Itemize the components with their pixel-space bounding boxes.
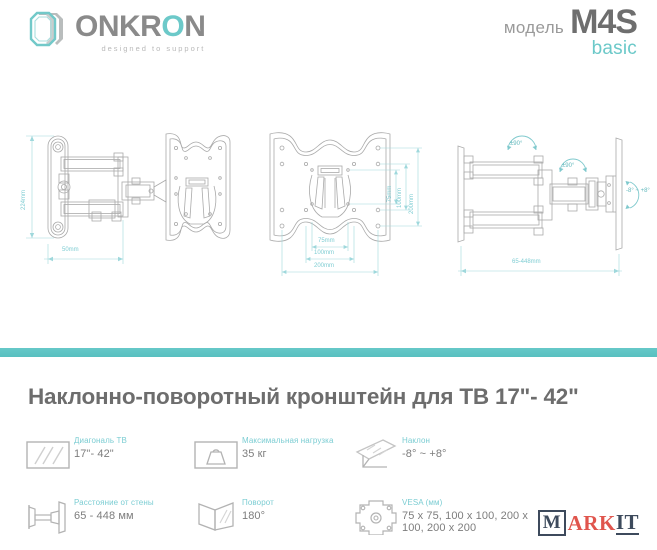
model-sub: basic bbox=[504, 39, 637, 59]
vesa-plate-icon bbox=[350, 494, 402, 540]
feature-max-load: Максимальная нагрузка 35 кг bbox=[190, 432, 350, 494]
model-code: M4S bbox=[570, 6, 637, 38]
features-row-1: Диагональ ТВ 17"- 42" Максимальная нагру… bbox=[22, 432, 642, 494]
onkron-cube-icon bbox=[26, 8, 68, 50]
top-view-extension-dim: 65-448mm bbox=[512, 259, 541, 265]
front-view-vesa-h-200: 200mm bbox=[314, 263, 334, 269]
brand-name-part2: N bbox=[184, 10, 205, 43]
feature-title: Наклон bbox=[402, 436, 447, 447]
feature-title: VESA (мм) bbox=[402, 498, 550, 509]
feature-value: 17"- 42" bbox=[74, 448, 127, 461]
markit-m: M bbox=[538, 510, 566, 536]
top-view-tilt-angle: -8° ~ +8° bbox=[626, 188, 646, 195]
front-view-vesa-v-100: 100mm bbox=[397, 188, 403, 208]
front-view-vesa-v-200: 200mm bbox=[409, 194, 415, 214]
feature-title: Поворот bbox=[242, 498, 274, 509]
top-view-drawing: ±90° ±90° -8° ~ +8° 65-448mm bbox=[450, 128, 650, 293]
markit-ark: ARK bbox=[568, 513, 616, 534]
front-view-vesa-h-75: 75mm bbox=[318, 238, 335, 244]
brand-name-part1: ONKR bbox=[75, 10, 161, 43]
technical-drawings: 224mm 50mm bbox=[0, 120, 657, 300]
swivel-icon bbox=[190, 494, 242, 540]
brand-name: ONKRON bbox=[75, 12, 205, 42]
feature-tv-size: Диагональ ТВ 17"- 42" bbox=[22, 432, 190, 494]
model-word: модель bbox=[504, 18, 564, 38]
section-divider bbox=[0, 348, 657, 357]
brand-text: ONKRON designed to support bbox=[75, 8, 205, 53]
brand-tagline: designed to support bbox=[75, 44, 205, 53]
front-view-drawing: 75mm 100mm 200mm 75mm 100mm 200mm bbox=[262, 122, 437, 292]
page-header: ONKRON designed to support модель M4S ba… bbox=[0, 0, 657, 62]
brand-name-accent: O bbox=[161, 10, 184, 43]
side-view-drawing: 224mm 50mm bbox=[14, 120, 244, 290]
feature-vesa: VESA (мм) 75 x 75, 100 x 100, 200 x 100,… bbox=[350, 494, 550, 550]
side-view-depth-dim: 50mm bbox=[62, 247, 79, 253]
feature-value: 180° bbox=[242, 510, 274, 523]
feature-value: 35 кг bbox=[242, 448, 334, 461]
wall-distance-icon bbox=[22, 494, 74, 540]
front-view-vesa-h-100: 100mm bbox=[314, 250, 334, 256]
markit-logo: MARKIT bbox=[538, 510, 639, 536]
product-spec-sheet: ONKRON designed to support модель M4S ba… bbox=[0, 0, 657, 550]
model-block: модель M4S basic bbox=[504, 6, 637, 59]
feature-title: Расстояние от стены bbox=[74, 498, 154, 509]
tilt-icon bbox=[350, 432, 402, 478]
markit-it: IT bbox=[616, 512, 639, 535]
feature-swivel: Поворот 180° bbox=[190, 494, 350, 550]
front-view-vesa-v-75: 75mm bbox=[387, 186, 393, 203]
top-view-swivel-arm-angle: ±90° bbox=[510, 141, 522, 147]
feature-value: 65 - 448 мм bbox=[74, 510, 154, 523]
feature-tilt: Наклон -8° ~ +8° bbox=[350, 432, 550, 494]
weight-icon bbox=[190, 432, 242, 478]
feature-title: Максимальная нагрузка bbox=[242, 436, 334, 447]
feature-wall-distance: Расстояние от стены 65 - 448 мм bbox=[22, 494, 190, 550]
feature-value: -8° ~ +8° bbox=[402, 448, 447, 461]
side-view-height-dim: 224mm bbox=[21, 190, 27, 210]
top-view-swivel-head-angle: ±90° bbox=[562, 163, 574, 169]
feature-title: Диагональ ТВ bbox=[74, 436, 127, 447]
page-title: Наклонно-поворотный кронштейн для ТВ 17"… bbox=[28, 384, 638, 410]
feature-value: 75 x 75, 100 x 100, 200 x 100, 200 x 200 bbox=[402, 510, 550, 535]
tv-screen-icon bbox=[22, 432, 74, 478]
onkron-logo: ONKRON designed to support bbox=[26, 8, 205, 53]
